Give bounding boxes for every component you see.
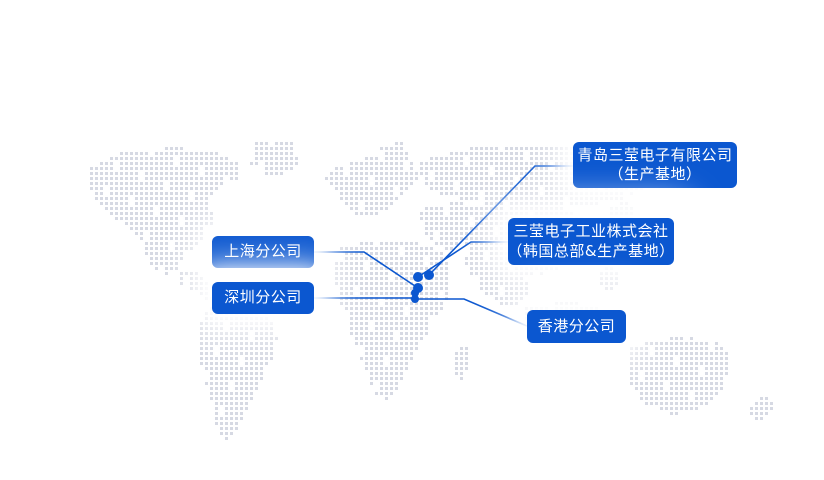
marker-dot-qingdao[interactable] [424,270,434,280]
label-korea-hq-line-1: 三莹电子工业株式会社 [513,222,668,241]
label-korea-hq[interactable]: 三莹电子工业株式会社（韩国总部&生产基地） [508,218,674,265]
label-shenzhen-line-1: 深圳分公司 [224,288,302,307]
label-qingdao[interactable]: 青岛三莹电子有限公司（生产基地） [573,142,737,188]
world-dot-map [0,0,824,480]
label-hongkong-line-1: 香港分公司 [538,317,616,336]
label-hongkong[interactable]: 香港分公司 [527,310,626,343]
label-shanghai[interactable]: 上海分公司 [212,236,314,268]
world-map-infographic: 青岛三莹电子有限公司（生产基地）三莹电子工业株式会社（韩国总部&生产基地）上海分… [0,0,824,480]
label-shenzhen[interactable]: 深圳分公司 [212,282,314,314]
marker-dot-hongkong[interactable] [411,295,419,303]
label-qingdao-line-2: （生产基地） [608,165,701,184]
world-map-svg [0,0,824,480]
label-korea-hq-line-2: （韩国总部&生产基地） [507,242,674,261]
label-qingdao-line-1: 青岛三莹电子有限公司 [577,146,732,165]
label-shanghai-line-1: 上海分公司 [224,242,302,261]
marker-dot-korea[interactable] [413,272,423,282]
